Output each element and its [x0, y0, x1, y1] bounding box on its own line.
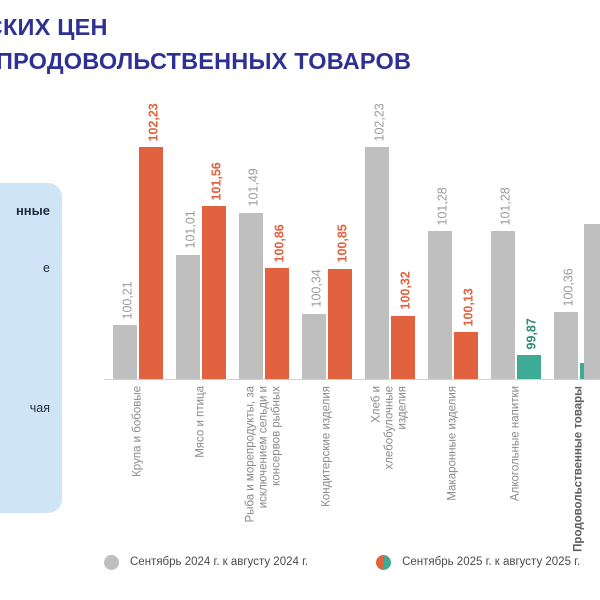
side-panel-line-3: чая [30, 401, 50, 415]
split-circle-icon [376, 555, 391, 570]
bar-2025[interactable]: 100,85 [328, 269, 352, 379]
legend-item-2024[interactable]: Сентябрь 2024 г. к августу 2024 г. [104, 555, 308, 570]
bar-2025[interactable]: 101,56 [202, 206, 226, 379]
category-label-text: Крупа и бобовые [132, 386, 145, 477]
bar-2024[interactable]: 101,49 [239, 213, 263, 379]
legend-label-2025: Сентябрь 2025 г. к августу 2025 г. [402, 556, 580, 568]
legend-item-2025[interactable]: Сентябрь 2025 г. к августу 2025 г. [376, 555, 580, 570]
bar-2024[interactable]: 100,34 [302, 314, 326, 379]
bar-2025[interactable]: 99,87 [517, 355, 541, 379]
bar-2024[interactable]: 101,01 [176, 255, 200, 379]
page-title: БИТЕЛЬСКИХ ЦЕН ГРУППЫ ПРОДОВОЛЬСТВЕННЫХ … [0, 10, 600, 78]
bar-value-label-2024: 101,49 [248, 168, 261, 206]
bar-value-label-2024: 100,36 [563, 268, 576, 306]
bar-value-label-2024: 100,21 [122, 281, 135, 319]
bar-2024[interactable]: 100,21 [113, 325, 137, 379]
legend-label-2024: Сентябрь 2024 г. к августу 2024 г. [130, 556, 308, 568]
bar-value-label-2024: 101,28 [500, 187, 513, 225]
category-label-text: Алкогольные напитки [510, 386, 523, 501]
bar-value-label-2025: 102,23 [148, 103, 161, 141]
bar-value-label-2024: 102,23 [374, 103, 387, 141]
bar-2024[interactable]: 100,36 [554, 312, 578, 379]
side-callout-panel: нные е чая [0, 183, 62, 513]
bar-value-label-2025: 100,86 [274, 224, 287, 262]
page-title-line-1: БИТЕЛЬСКИХ ЦЕН [0, 10, 600, 44]
bar-value-label-2024: 101,28 [437, 187, 450, 225]
bar-value-label-2025: 100,85 [337, 225, 350, 263]
bar-value-label-2025: 101,56 [211, 162, 224, 200]
page-title-line-2: ГРУППЫ ПРОДОВОЛЬСТВЕННЫХ ТОВАРОВ [0, 44, 600, 78]
side-panel-line-1: нные [16, 203, 50, 218]
grey-circle-icon [104, 555, 119, 570]
axis-baseline [104, 379, 600, 380]
bar-value-label-2024: 101,01 [185, 211, 198, 249]
bar-2025[interactable]: 100,32 [391, 316, 415, 379]
category-axis-labels: Крупа и бобовыеМясо и птицаРыба и морепр… [104, 386, 600, 536]
category-label-text: Кондитерские изделия [321, 386, 334, 507]
bar-2025[interactable]: 100,13 [454, 332, 478, 379]
category-label-text: Рыба и морепродукты, за исключением сель… [245, 386, 284, 536]
bar-2024[interactable]: 101,28 [428, 231, 452, 379]
side-panel-line-2: е [43, 261, 50, 275]
clipped-edge-bar [584, 224, 600, 379]
category-label-text: Продовольственные товары [573, 386, 586, 552]
category-label-text: Мясо и птица [195, 386, 208, 458]
bar-2025[interactable]: 100,86 [265, 268, 289, 379]
plot-area: 100,21102,23101,01101,56101,49100,86100,… [104, 128, 600, 380]
category-label-text: Макаронные изделия [447, 386, 460, 501]
bar-value-label-2025: 99,87 [526, 318, 539, 349]
category-label-text: Хлеб и хлебобулочные изделия [371, 386, 410, 496]
bar-value-label-2025: 100,32 [400, 271, 413, 309]
bar-value-label-2025: 100,13 [463, 288, 476, 326]
chart-legend: Сентябрь 2024 г. к августу 2024 г. Сентя… [104, 550, 600, 574]
bar-value-label-2024: 100,34 [311, 270, 324, 308]
bar-chart: 100,21102,23101,01101,56101,49100,86100,… [104, 128, 600, 380]
bar-2024[interactable]: 102,23 [365, 147, 389, 379]
bar-2024[interactable]: 101,28 [491, 231, 515, 379]
bar-2025[interactable]: 102,23 [139, 147, 163, 379]
